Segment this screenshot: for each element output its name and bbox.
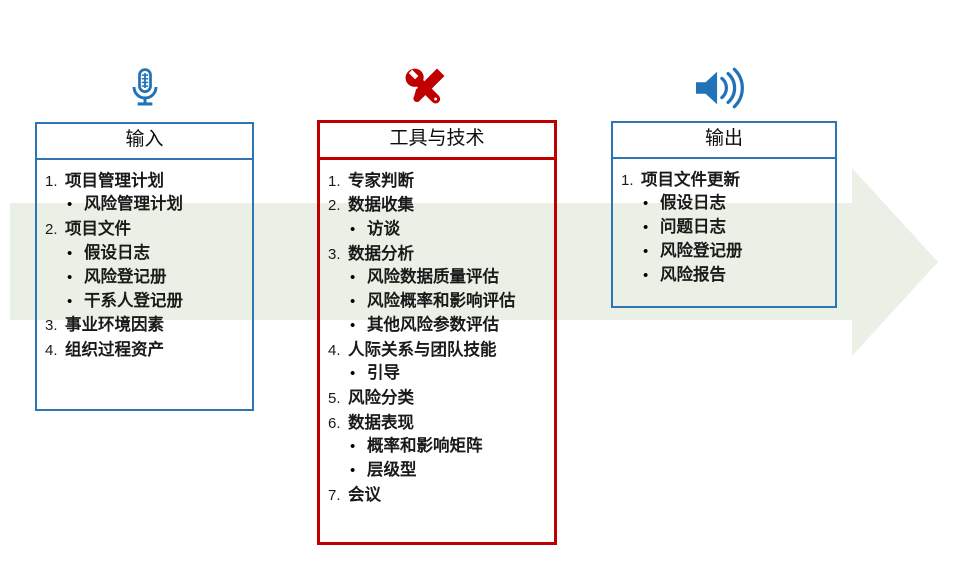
numbered-item: 7.会议 <box>328 483 548 506</box>
sub-item-list: •访谈 <box>328 217 548 241</box>
sub-item-label: 干系人登记册 <box>84 289 183 313</box>
sub-item-label: 风险登记册 <box>84 265 167 289</box>
microphone-icon <box>115 58 175 116</box>
item-number: 4. <box>45 340 65 361</box>
bullet-icon: • <box>67 271 84 286</box>
sub-list-item: •其他风险参数评估 <box>350 313 548 337</box>
sub-item-label: 其他风险参数评估 <box>367 313 499 337</box>
list-item: 5.风险分类 <box>328 386 548 409</box>
numbered-item: 4.组织过程资产 <box>45 338 246 361</box>
item-label: 项目文件更新 <box>641 168 740 191</box>
sub-list-item: •风险管理计划 <box>67 192 246 216</box>
sub-item-list: •引导 <box>328 361 548 385</box>
numbered-item: 2.数据收集 <box>328 193 548 216</box>
list-item: 3.事业环境因素 <box>45 313 246 336</box>
input-box: 输入 1.项目管理计划•风险管理计划2.项目文件•假设日志•风险登记册•干系人登… <box>35 122 254 411</box>
item-number: 3. <box>45 315 65 336</box>
item-label: 数据分析 <box>348 242 414 265</box>
list-item: 2.项目文件•假设日志•风险登记册•干系人登记册 <box>45 217 246 312</box>
sub-list-item: •风险登记册 <box>67 265 246 289</box>
sub-item-label: 风险管理计划 <box>84 192 183 216</box>
sub-item-label: 问题日志 <box>660 215 726 239</box>
bullet-icon: • <box>350 440 367 455</box>
bullet-icon: • <box>350 319 367 334</box>
bullet-icon: • <box>67 295 84 310</box>
list-item: 1.项目文件更新•假设日志•问题日志•风险登记册•风险报告 <box>621 168 829 287</box>
output-item-list: 1.项目文件更新•假设日志•问题日志•风险登记册•风险报告 <box>621 168 829 287</box>
list-item: 7.会议 <box>328 483 548 506</box>
bullet-icon: • <box>67 247 84 262</box>
item-label: 人际关系与团队技能 <box>348 338 497 361</box>
item-label: 数据收集 <box>348 193 414 216</box>
input-box-header: 输入 <box>37 124 252 160</box>
sub-item-label: 风险数据质量评估 <box>367 265 499 289</box>
tools-item-list: 1.专家判断2.数据收集•访谈3.数据分析•风险数据质量评估•风险概率和影响评估… <box>328 169 548 506</box>
sub-list-item: •概率和影响矩阵 <box>350 434 548 458</box>
tools-box-header: 工具与技术 <box>320 123 554 160</box>
output-box: 输出 1.项目文件更新•假设日志•问题日志•风险登记册•风险报告 <box>611 121 837 308</box>
sub-item-list: •假设日志•问题日志•风险登记册•风险报告 <box>621 191 829 287</box>
bullet-icon: • <box>67 198 84 213</box>
tools-wrench-screwdriver-icon <box>396 56 458 116</box>
sub-list-item: •假设日志 <box>643 191 829 215</box>
sub-list-item: •引导 <box>350 361 548 385</box>
sub-item-list: •风险管理计划 <box>45 192 246 216</box>
numbered-item: 1.项目文件更新 <box>621 168 829 191</box>
bullet-icon: • <box>643 197 660 212</box>
list-item: 4.人际关系与团队技能•引导 <box>328 338 548 385</box>
sub-list-item: •风险报告 <box>643 263 829 287</box>
sub-item-list: •风险数据质量评估•风险概率和影响评估•其他风险参数评估 <box>328 265 548 337</box>
numbered-item: 1.专家判断 <box>328 169 548 192</box>
bullet-icon: • <box>643 269 660 284</box>
bullet-icon: • <box>350 464 367 479</box>
numbered-item: 4.人际关系与团队技能 <box>328 338 548 361</box>
sub-list-item: •访谈 <box>350 217 548 241</box>
list-item: 1.专家判断 <box>328 169 548 192</box>
sub-item-label: 风险登记册 <box>660 239 743 263</box>
bullet-icon: • <box>350 223 367 238</box>
sub-item-label: 访谈 <box>367 217 400 241</box>
tools-and-techniques-box: 工具与技术 1.专家判断2.数据收集•访谈3.数据分析•风险数据质量评估•风险概… <box>317 120 557 545</box>
input-box-body: 1.项目管理计划•风险管理计划2.项目文件•假设日志•风险登记册•干系人登记册3… <box>37 160 252 371</box>
sub-item-label: 层级型 <box>367 458 417 482</box>
sub-list-item: •风险登记册 <box>643 239 829 263</box>
item-number: 1. <box>328 171 348 192</box>
item-label: 会议 <box>348 483 381 506</box>
sub-list-item: •问题日志 <box>643 215 829 239</box>
input-item-list: 1.项目管理计划•风险管理计划2.项目文件•假设日志•风险登记册•干系人登记册3… <box>45 169 246 361</box>
item-number: 1. <box>621 170 641 191</box>
numbered-item: 3.事业环境因素 <box>45 313 246 336</box>
sub-item-label: 概率和影响矩阵 <box>367 434 483 458</box>
sub-item-list: •假设日志•风险登记册•干系人登记册 <box>45 241 246 313</box>
output-box-header: 输出 <box>613 123 835 159</box>
sub-list-item: •干系人登记册 <box>67 289 246 313</box>
item-label: 项目管理计划 <box>65 169 164 192</box>
item-number: 7. <box>328 485 348 506</box>
list-item: 3.数据分析•风险数据质量评估•风险概率和影响评估•其他风险参数评估 <box>328 242 548 337</box>
item-label: 数据表现 <box>348 411 414 434</box>
numbered-item: 5.风险分类 <box>328 386 548 409</box>
list-item: 4.组织过程资产 <box>45 338 246 361</box>
bullet-icon: • <box>350 271 367 286</box>
item-number: 5. <box>328 388 348 409</box>
sub-list-item: •风险数据质量评估 <box>350 265 548 289</box>
bullet-icon: • <box>350 367 367 382</box>
sub-item-label: 引导 <box>367 361 400 385</box>
sub-list-item: •层级型 <box>350 458 548 482</box>
sub-item-list: •概率和影响矩阵•层级型 <box>328 434 548 482</box>
item-label: 组织过程资产 <box>65 338 164 361</box>
item-number: 1. <box>45 171 65 192</box>
item-number: 2. <box>45 219 65 240</box>
numbered-item: 2.项目文件 <box>45 217 246 240</box>
sub-list-item: •假设日志 <box>67 241 246 265</box>
sub-list-item: •风险概率和影响评估 <box>350 289 548 313</box>
sub-item-label: 风险报告 <box>660 263 726 287</box>
list-item: 2.数据收集•访谈 <box>328 193 548 240</box>
numbered-item: 6.数据表现 <box>328 411 548 434</box>
bullet-icon: • <box>643 245 660 260</box>
numbered-item: 3.数据分析 <box>328 242 548 265</box>
sub-item-label: 风险概率和影响评估 <box>367 289 516 313</box>
item-label: 事业环境因素 <box>65 313 164 336</box>
numbered-item: 1.项目管理计划 <box>45 169 246 192</box>
sub-item-label: 假设日志 <box>84 241 150 265</box>
bullet-icon: • <box>350 295 367 310</box>
list-item: 1.项目管理计划•风险管理计划 <box>45 169 246 216</box>
item-number: 2. <box>328 195 348 216</box>
bullet-icon: • <box>643 221 660 236</box>
item-number: 4. <box>328 340 348 361</box>
item-label: 风险分类 <box>348 386 414 409</box>
item-number: 3. <box>328 244 348 265</box>
item-number: 6. <box>328 413 348 434</box>
output-box-body: 1.项目文件更新•假设日志•问题日志•风险登记册•风险报告 <box>613 159 835 297</box>
item-label: 项目文件 <box>65 217 131 240</box>
sub-item-label: 假设日志 <box>660 191 726 215</box>
list-item: 6.数据表现•概率和影响矩阵•层级型 <box>328 411 548 482</box>
tools-box-body: 1.专家判断2.数据收集•访谈3.数据分析•风险数据质量评估•风险概率和影响评估… <box>320 160 554 516</box>
speaker-volume-icon <box>683 60 755 116</box>
item-label: 专家判断 <box>348 169 414 192</box>
